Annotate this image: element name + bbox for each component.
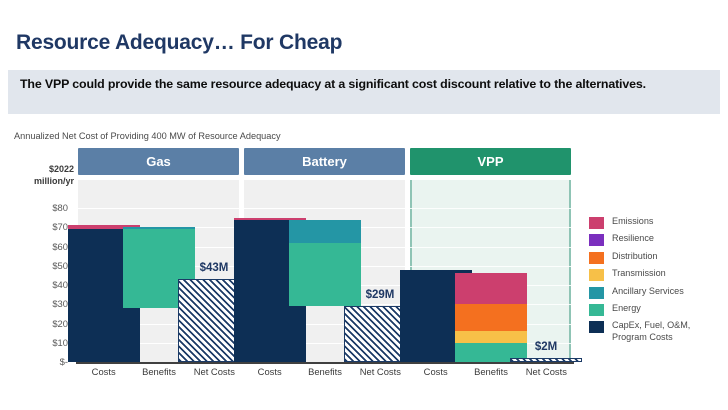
group-header-battery: Battery	[244, 148, 405, 175]
legend-label: CapEx, Fuel, O&M,Program Costs	[612, 320, 690, 342]
slide-root: Resource Adequacy… For Cheap The VPP cou…	[0, 0, 728, 410]
x-axis-label-gas-costs: Costs	[76, 366, 132, 377]
bar-vpp-net-costs[interactable]	[510, 358, 582, 362]
gridline	[410, 208, 571, 209]
legend-label: Resilience	[612, 233, 654, 244]
legend-label: Energy	[612, 303, 641, 314]
legend-item[interactable]: Ancillary Services	[589, 286, 724, 299]
legend-label: Ancillary Services	[612, 286, 684, 297]
x-axis-label-battery-benefits: Benefits	[297, 366, 353, 377]
y-axis-tick-label: $80	[10, 202, 68, 213]
y-axis-tick-label: $10	[10, 337, 68, 348]
group-header-gas: Gas	[78, 148, 239, 175]
x-axis-label-battery-costs: Costs	[242, 366, 298, 377]
y-axis-tick-label: $20	[10, 318, 68, 329]
x-axis-baseline	[76, 362, 574, 364]
legend-label: Emissions	[612, 216, 653, 227]
gridline	[244, 208, 405, 209]
legend-item[interactable]: Distribution	[589, 251, 724, 264]
group-header-vpp: VPP	[410, 148, 571, 175]
gridline	[410, 247, 571, 248]
legend-swatch-capex	[589, 321, 604, 333]
gridline	[78, 208, 239, 209]
legend-swatch-energy	[589, 304, 604, 316]
legend-item[interactable]: Energy	[589, 303, 724, 316]
x-axis-label-vpp-costs: Costs	[408, 366, 464, 377]
x-axis-label-gas-net-costs: Net Costs	[186, 366, 242, 377]
bar-segment-emissions	[455, 273, 527, 304]
value-label-vpp: $2M	[500, 341, 592, 353]
y-axis-tick-label: $30	[10, 298, 68, 309]
y-axis-tick-label: $50	[10, 260, 68, 271]
bar-segment-distribution	[455, 304, 527, 331]
legend-label: Distribution	[612, 251, 658, 262]
legend-swatch-emissions	[589, 217, 604, 229]
legend-swatch-distribution	[589, 252, 604, 264]
y-axis-tick-label: $40	[10, 279, 68, 290]
x-axis-label-battery-net-costs: Net Costs	[352, 366, 408, 377]
legend-item[interactable]: Transmission	[589, 268, 724, 281]
chart-legend: EmissionsResilienceDistributionTransmiss…	[589, 216, 724, 347]
legend-item[interactable]: CapEx, Fuel, O&M,Program Costs	[589, 320, 724, 342]
legend-item[interactable]: Emissions	[589, 216, 724, 229]
legend-swatch-resilience	[589, 234, 604, 246]
legend-swatch-ancillary-services	[589, 287, 604, 299]
bar-segment-ancillary-services	[289, 220, 361, 243]
x-axis-label-vpp-net-costs: Net Costs	[518, 366, 574, 377]
legend-swatch-transmission	[589, 269, 604, 281]
gridline	[410, 266, 571, 267]
y-axis-tick-label: $60	[10, 241, 68, 252]
x-axis-label-vpp-benefits: Benefits	[463, 366, 519, 377]
gridline	[410, 227, 571, 228]
legend-label: Transmission	[612, 268, 666, 279]
x-axis-label-gas-benefits: Benefits	[131, 366, 187, 377]
y-axis-tick-label: $-	[10, 356, 68, 367]
y-axis-tick-label: $70	[10, 221, 68, 232]
legend-item[interactable]: Resilience	[589, 233, 724, 246]
chart-plot-area: GasBatteryVPP$80$70$60$50$40$30$20$10$-C…	[0, 0, 728, 410]
bar-segment-ancillary-services	[123, 227, 195, 229]
